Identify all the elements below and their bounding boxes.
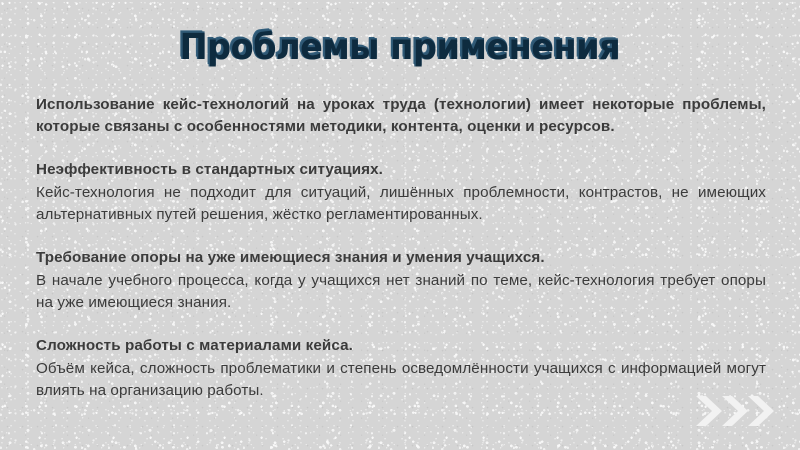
problem-block: Неэффективность в стандартных ситуациях.… [36, 159, 766, 226]
problem-body: Объём кейса, сложность проблематики и ст… [36, 358, 766, 402]
presentation-slide: Проблемы применения Использование кейс-т… [0, 0, 800, 450]
intro-paragraph: Использование кейс-технологий на уроках … [36, 94, 766, 138]
problem-block: Сложность работы с материалами кейса. Об… [36, 335, 766, 402]
slide-title-container: Проблемы применения [0, 2, 800, 94]
problem-body: Кейс-технология не подходит для ситуаций… [36, 182, 766, 226]
problem-heading: Неэффективность в стандартных ситуациях. [36, 159, 766, 181]
problem-block: Требование опоры на уже имеющиеся знания… [36, 247, 766, 314]
slide-body: Использование кейс-технологий на уроках … [36, 94, 766, 412]
section-spacer [36, 324, 766, 335]
section-spacer [36, 236, 766, 247]
slide-title: Проблемы применения [180, 26, 621, 70]
section-spacer [36, 148, 766, 159]
problem-body: В начале учебного процесса, когда у учащ… [36, 270, 766, 314]
problem-heading: Требование опоры на уже имеющиеся знания… [36, 247, 766, 269]
problem-heading: Сложность работы с материалами кейса. [36, 335, 766, 357]
